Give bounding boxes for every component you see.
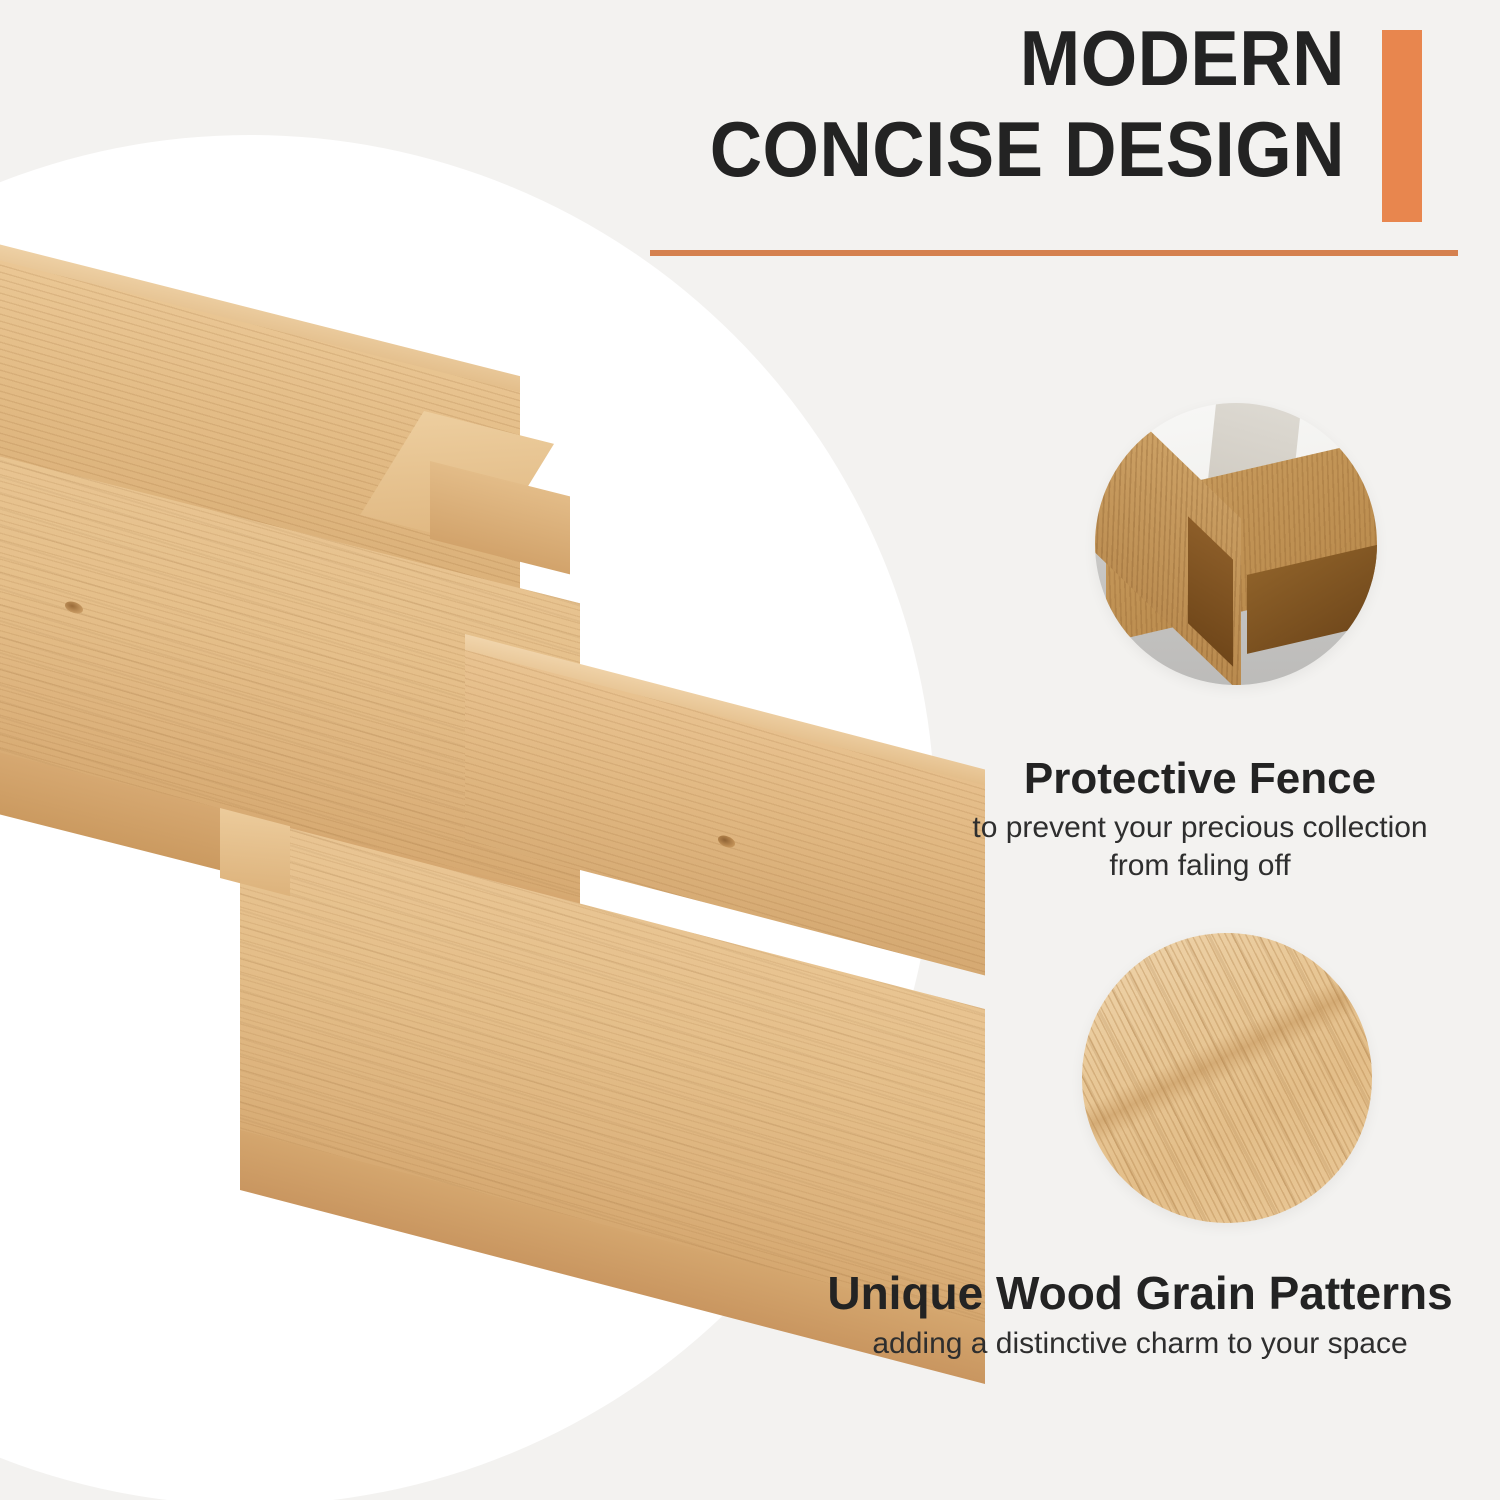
feature-subtitle-line-2: from faling off (905, 847, 1495, 885)
grain-streak (1082, 948, 1372, 1155)
headline-block: MODERN CONCISE DESIGN (585, 18, 1345, 190)
feature-subtitle-line-1: to prevent your precious collection (905, 809, 1495, 847)
orange-divider-rule (650, 250, 1458, 256)
product-feature-banner: MODERN CONCISE DESIGN Protective Fence t… (0, 0, 1500, 1500)
feature-image-protective-fence (1095, 403, 1377, 685)
grain-photo (1082, 933, 1372, 1223)
orange-accent-bar (1382, 30, 1422, 222)
feature-title: Protective Fence (905, 755, 1495, 803)
headline-line-2: CONCISE DESIGN (638, 109, 1345, 190)
feature-image-wood-grain (1082, 933, 1372, 1223)
feature-title: Unique Wood Grain Patterns (790, 1268, 1490, 1319)
feature-subtitle-line-1: adding a distinctive charm to your space (790, 1325, 1490, 1363)
feature-text-wood-grain: Unique Wood Grain Patterns adding a dist… (790, 1268, 1490, 1362)
feature-text-protective-fence: Protective Fence to prevent your preciou… (905, 755, 1495, 885)
headline-line-1: MODERN (638, 18, 1345, 99)
shelf-end-lip (220, 808, 290, 896)
fence-photo (1095, 403, 1377, 685)
hero-shelf-lower (210, 630, 910, 1310)
